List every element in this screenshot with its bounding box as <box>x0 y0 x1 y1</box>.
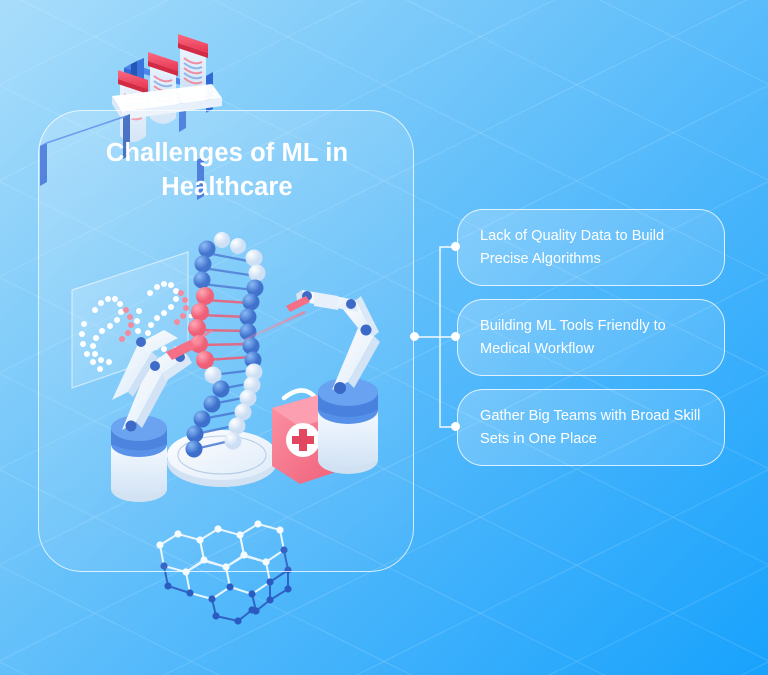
connector-node-root <box>410 332 419 341</box>
callout-text-ml-tools: Building ML Tools Friendly to Medical Wo… <box>480 315 702 359</box>
card-title-line-1: Challenges of ML in <box>106 139 348 167</box>
callout-text-big-teams: Gather Big Teams with Broad Skill Sets i… <box>480 405 702 449</box>
infographic-canvas: Challenges of ML in Healthcare Lack of Q… <box>0 0 768 675</box>
card-title-line-2: Healthcare <box>161 173 292 201</box>
page-title: Challenges of ML in Healthcare <box>67 137 387 204</box>
main-card: Challenges of ML in Healthcare <box>38 110 414 572</box>
callout-text-quality-data: Lack of Quality Data to Build Precise Al… <box>480 225 702 269</box>
connector-lines <box>415 247 455 427</box>
callout-box-ml-tools[interactable]: Building ML Tools Friendly to Medical Wo… <box>457 299 725 376</box>
callout-box-quality-data[interactable]: Lack of Quality Data to Build Precise Al… <box>457 209 725 286</box>
callout-box-big-teams[interactable]: Gather Big Teams with Broad Skill Sets i… <box>457 389 725 466</box>
